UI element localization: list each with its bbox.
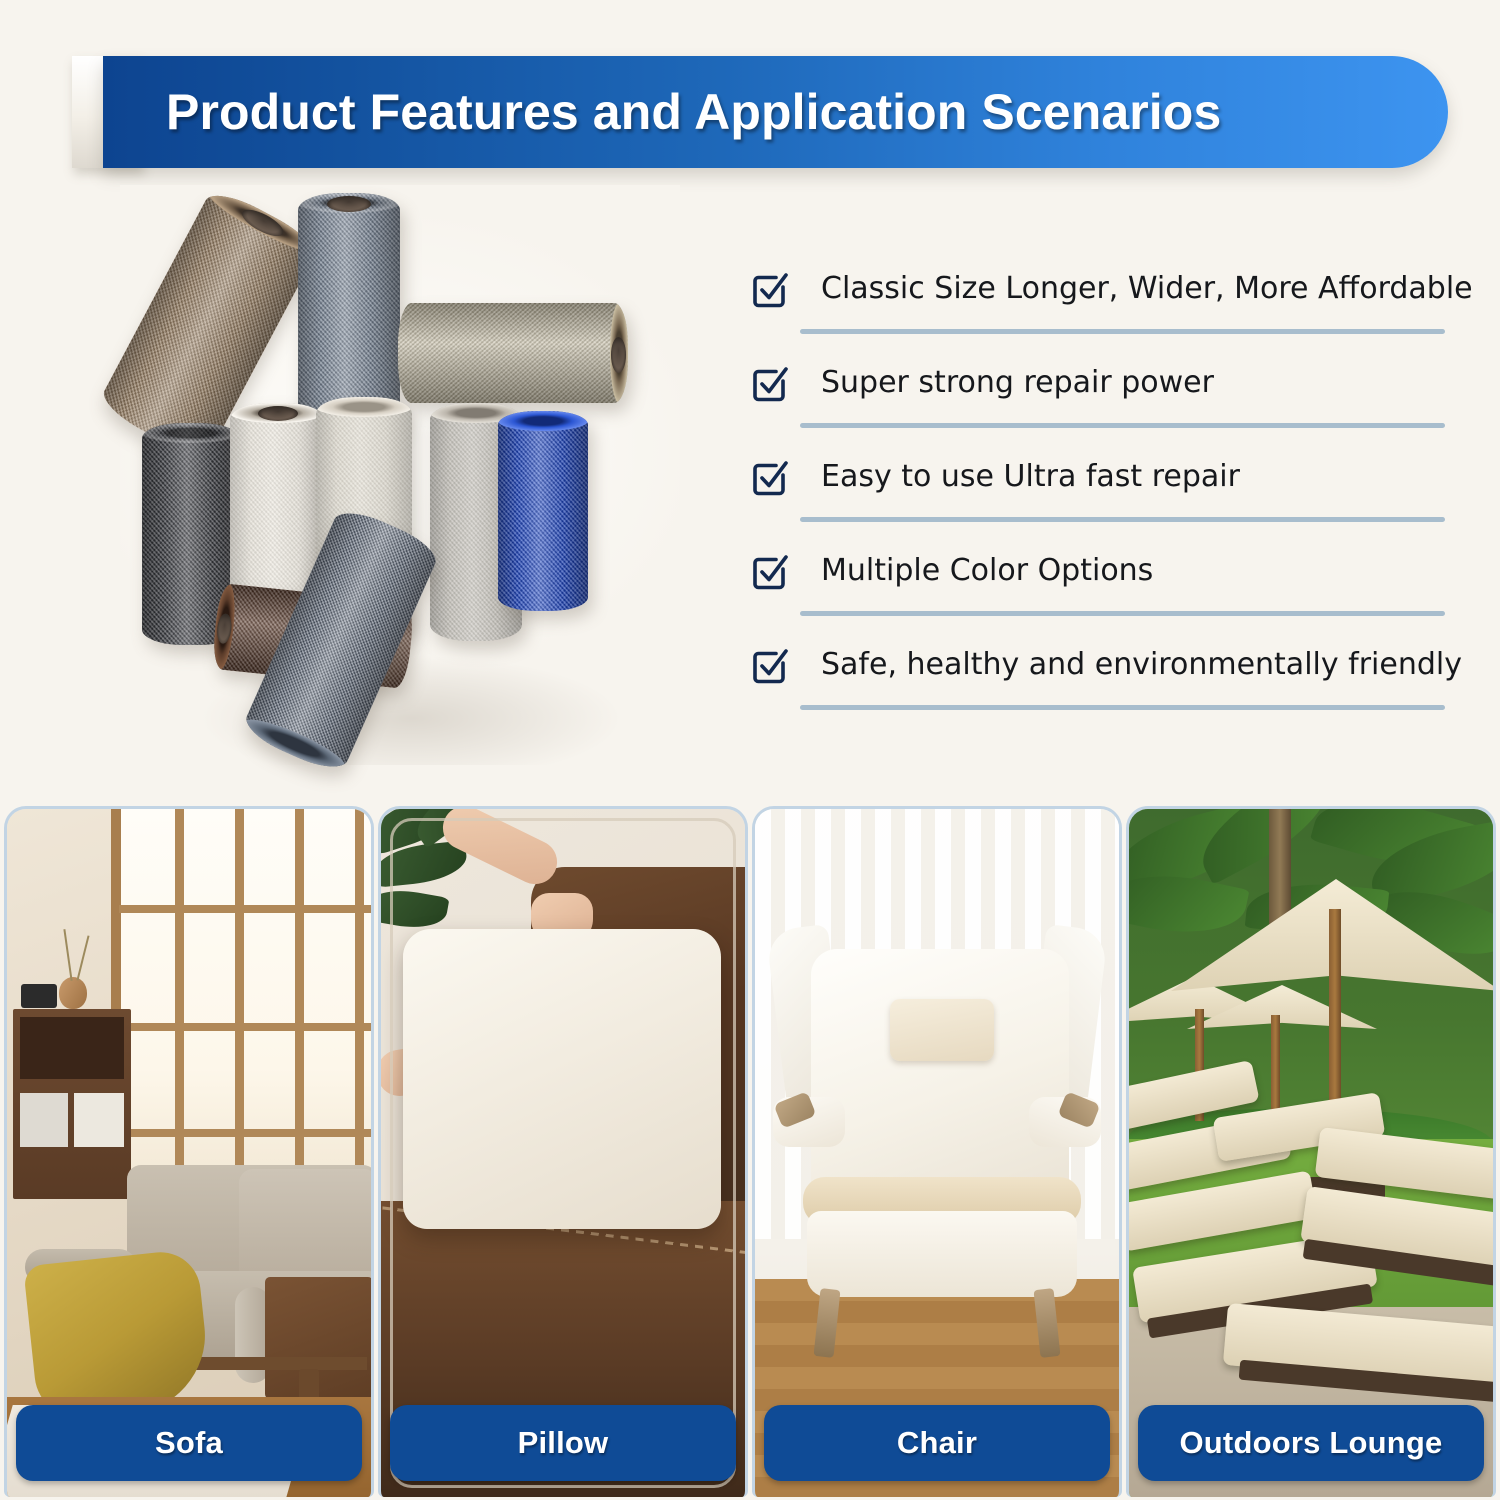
feature-label: Easy to use Ultra fast repair [821, 462, 1240, 492]
page-title: Product Features and Application Scenari… [166, 83, 1221, 141]
scenario-caption-sofa: Sofa [16, 1405, 362, 1481]
caption-label: Chair [897, 1425, 977, 1461]
scenario-panel-chair[interactable]: Chair [752, 806, 1122, 1497]
checkbox-checked-icon [748, 361, 792, 405]
feature-label: Super strong repair power [821, 368, 1214, 398]
scenario-panel-pillow[interactable]: Pillow [378, 806, 748, 1497]
header-banner: Product Features and Application Scenari… [0, 0, 1500, 200]
feature-separator [800, 611, 1445, 616]
feature-item: Safe, healthy and environmentally friend… [748, 634, 1460, 728]
feature-item: Easy to use Ultra fast repair [748, 446, 1460, 540]
tape-roll-blue [498, 411, 588, 611]
feature-separator [800, 517, 1445, 522]
feature-separator [800, 705, 1445, 710]
checkbox-checked-icon [748, 549, 792, 593]
scenario-panels: Sofa Pillow [0, 806, 1500, 1500]
caption-label: Sofa [155, 1425, 223, 1461]
scenario-caption-chair: Chair [764, 1405, 1110, 1481]
feature-separator [800, 423, 1445, 428]
caption-label: Pillow [518, 1425, 609, 1461]
tape-roll-beige [398, 303, 628, 403]
living-room-sofa-photo [7, 809, 371, 1497]
checkbox-checked-icon [748, 455, 792, 499]
feature-list: Classic Size Longer, Wider, More Afforda… [748, 258, 1460, 728]
checkbox-checked-icon [748, 267, 792, 311]
caption-label: Outdoors Lounge [1179, 1425, 1442, 1461]
scenario-panel-outdoors-lounge[interactable]: Outdoors Lounge [1126, 806, 1496, 1497]
scenario-panel-sofa[interactable]: Sofa [4, 806, 374, 1497]
product-rolls-image [120, 185, 680, 765]
scenario-caption-pillow: Pillow [390, 1405, 736, 1481]
banner-bar: Product Features and Application Scenari… [103, 56, 1448, 168]
feature-item: Super strong repair power [748, 352, 1460, 446]
feature-label: Classic Size Longer, Wider, More Afforda… [821, 274, 1473, 304]
feature-label: Safe, healthy and environmentally friend… [821, 650, 1462, 680]
resort-lounge-chairs-photo [1129, 809, 1493, 1497]
feature-item: Classic Size Longer, Wider, More Afforda… [748, 258, 1460, 352]
feature-separator [800, 329, 1445, 334]
scenario-caption-outdoors-lounge: Outdoors Lounge [1138, 1405, 1484, 1481]
white-wingback-chair-photo [755, 809, 1119, 1497]
feature-item: Multiple Color Options [748, 540, 1460, 634]
hands-placing-pillow-photo [381, 809, 745, 1497]
checkbox-checked-icon [748, 643, 792, 687]
feature-label: Multiple Color Options [821, 556, 1153, 586]
